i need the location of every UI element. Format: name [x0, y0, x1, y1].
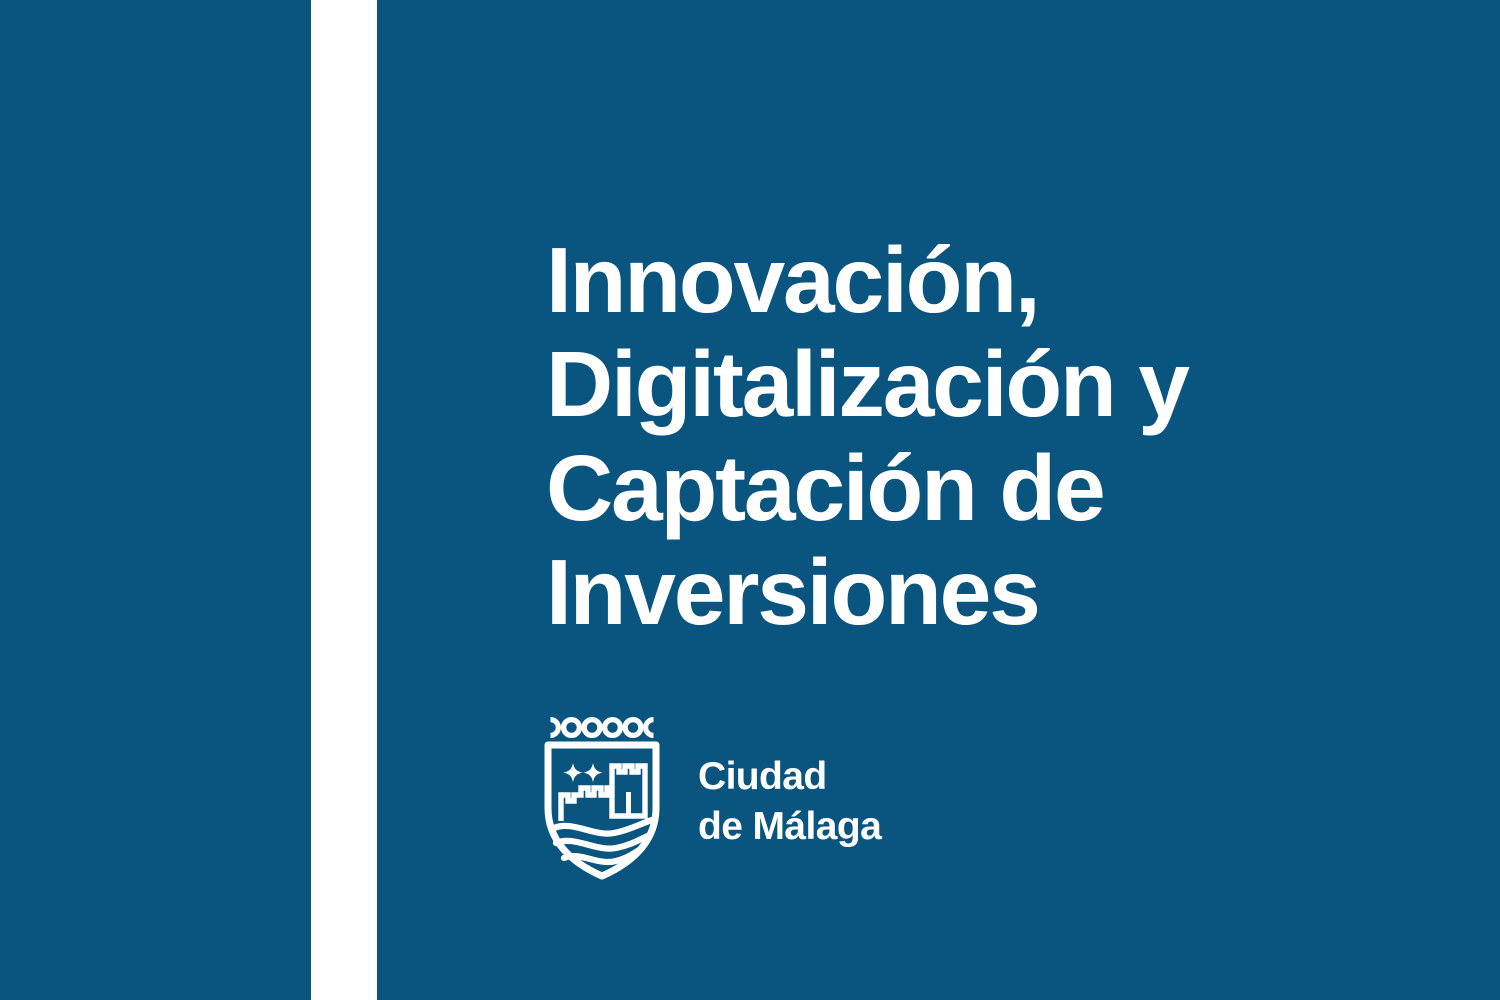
logo-lockup: Ciudad de Málaga [542, 716, 881, 881]
content-column: Innovación, Digitalización y Captación d… [546, 0, 1406, 1000]
logo-wordmark-line-1: Ciudad [698, 752, 881, 802]
title-line-3: Captación de [546, 436, 1326, 540]
title-line-4: Inversiones [546, 540, 1326, 644]
title-line-2: Digitalización y [546, 332, 1326, 436]
title-line-1: Innovación, [546, 228, 1326, 332]
logo-wordmark: Ciudad de Málaga [698, 752, 881, 852]
logo-wordmark-line-2: de Málaga [698, 802, 881, 852]
malaga-shield-crest-icon [542, 716, 662, 881]
page-title: Innovación, Digitalización y Captación d… [546, 228, 1326, 644]
accent-stripe [311, 0, 377, 1000]
slide-canvas: Innovación, Digitalización y Captación d… [0, 0, 1500, 1000]
